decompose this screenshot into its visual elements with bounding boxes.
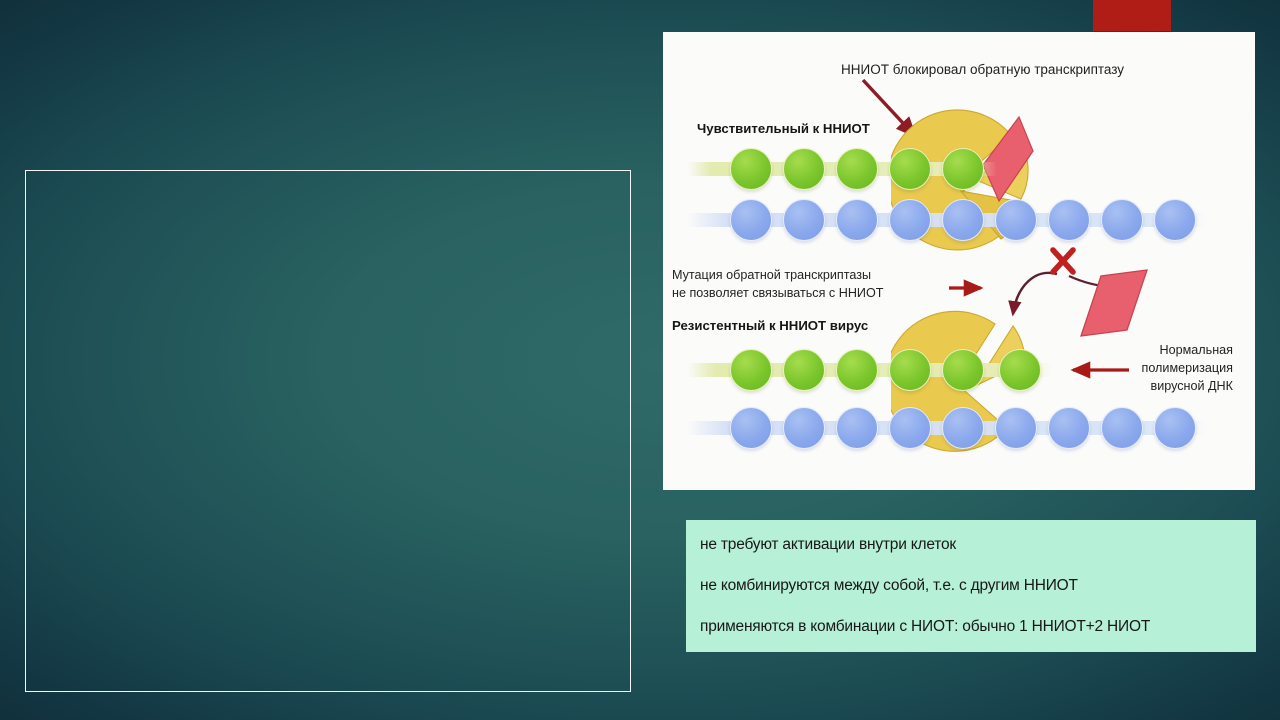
accent-block-top-right [1093,0,1171,31]
nucleotide-blue [942,407,984,449]
nucleotide-blue [1048,407,1090,449]
nucleotide-blue [995,199,1037,241]
nucleotide-blue [836,199,878,241]
nucleotide-green [836,148,878,190]
nucleotide-green [942,349,984,391]
label-sensitive-virus: Чувствительный к ННИОТ [697,121,870,137]
nucleotide-blue [783,407,825,449]
bullets-text-box[interactable]: не требуют активации внутри клеток не ко… [686,520,1256,652]
nucleotide-blue [942,199,984,241]
nucleotide-blue [889,199,931,241]
nucleotide-green [889,148,931,190]
slide-canvas: ННИОТ блокировал обратную транскриптазу [0,0,1280,720]
annotation-normal-poly-line3: вирусной ДНК [1068,379,1233,394]
nucleotide-blue [1101,199,1143,241]
annotation-mutation-line1: Мутация обратной транскриптазы [672,268,871,283]
annotation-normal-poly-line2: полимеризация [1068,361,1233,376]
diagram-image-panel: ННИОТ блокировал обратную транскриптазу [663,32,1255,490]
nucleotide-blue [889,407,931,449]
nucleotide-green [836,349,878,391]
nucleotide-blue [1048,199,1090,241]
annotation-normal-poly-line1: Нормальная [1068,343,1233,358]
nucleotide-green [730,349,772,391]
nucleotide-green [783,349,825,391]
drug-nnrti-bound-icon [981,115,1041,203]
nucleotide-green [942,148,984,190]
annotation-mutation-line2: не позволяет связываться с ННИОТ [672,286,883,301]
bullet-item-3: применяются в комбинации с НИОТ: обычно … [700,618,1256,636]
nucleotide-blue [995,407,1037,449]
nucleotide-green [730,148,772,190]
cross-mark-icon [1053,250,1073,272]
nucleotide-blue [730,199,772,241]
drug-nnrti-unbound-icon [1075,264,1155,342]
content-placeholder-box[interactable] [25,170,631,692]
nucleotide-green [889,349,931,391]
nucleotide-blue [1101,407,1143,449]
bullet-item-1: не требуют активации внутри клеток [700,536,1256,554]
nucleotide-blue [783,199,825,241]
nucleotide-green [783,148,825,190]
nucleotide-blue [836,407,878,449]
nucleotide-green [999,349,1041,391]
bullet-item-2: не комбинируются между собой, т.е. с дру… [700,577,1256,595]
nucleotide-blue [1154,407,1196,449]
label-resistant-virus: Резистентный к ННИОТ вирус [672,318,868,334]
nucleotide-blue [1154,199,1196,241]
nucleotide-blue [730,407,772,449]
